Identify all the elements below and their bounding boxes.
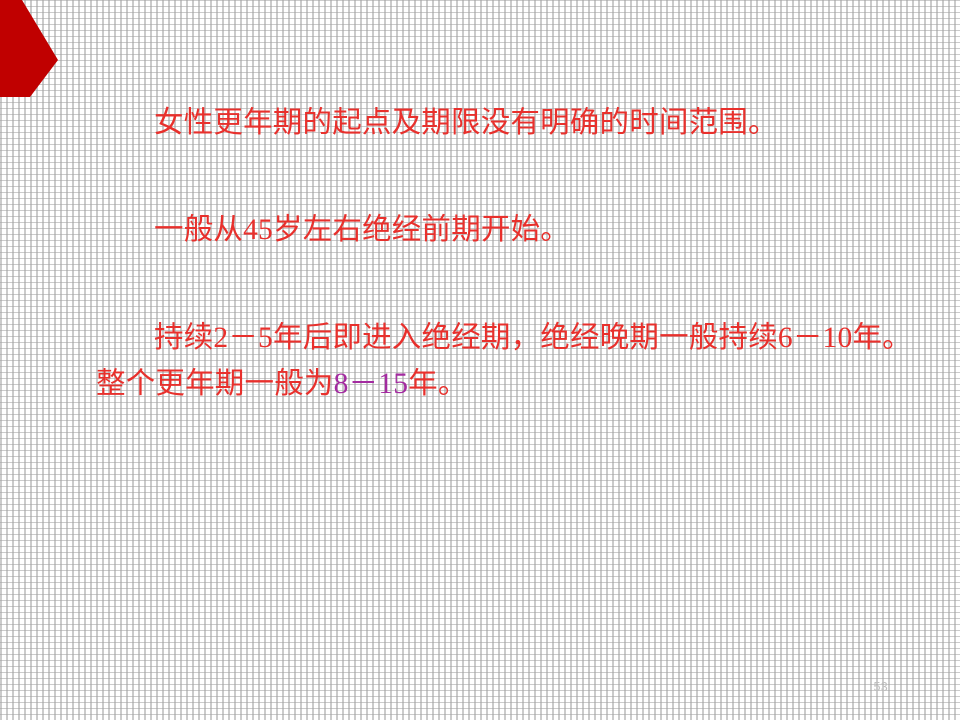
slide-body-text: 女性更年期的起点及期限没有明确的时间范围。 一般从45岁左右绝经前期开始。 持续… [96, 100, 912, 407]
red-pentagon-corner-accent-icon [0, 0, 70, 110]
paragraph-3-highlight: 8－15 [334, 368, 409, 400]
paragraph-2: 一般从45岁左右绝经前期开始。 [96, 207, 912, 253]
slide-canvas: 女性更年期的起点及期限没有明确的时间范围。 一般从45岁左右绝经前期开始。 持续… [0, 0, 960, 720]
paragraph-3-lead: 持续2－5年后即进入绝经期，绝经晚期一般持续6－10年。整个更年期一般为 [96, 322, 912, 400]
paragraph-3-tail: 年。 [408, 368, 467, 400]
paragraph-3: 持续2－5年后即进入绝经期，绝经晚期一般持续6－10年。整个更年期一般为8－15… [96, 315, 912, 407]
page-number: 53 [873, 680, 888, 694]
paragraph-1: 女性更年期的起点及期限没有明确的时间范围。 [96, 100, 912, 146]
